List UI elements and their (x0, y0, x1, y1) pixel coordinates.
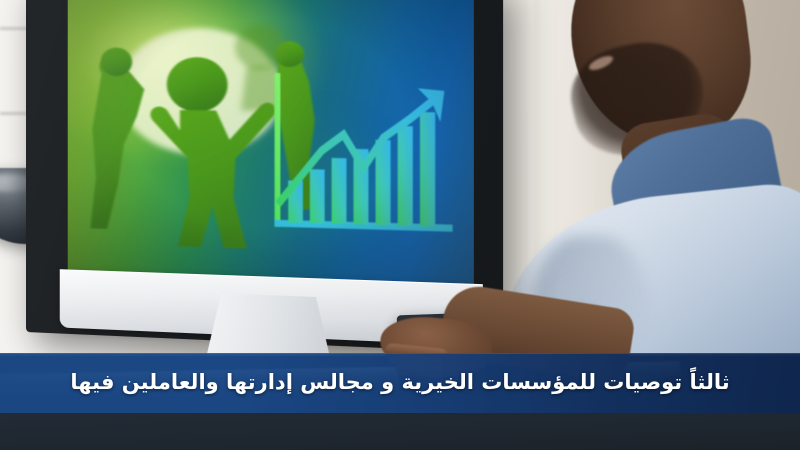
caption-text: ثالثاً توصيات للمؤسسات الخيرية و مجالس إ… (56, 371, 743, 394)
screen-reflection (68, 0, 474, 286)
slide-canvas: ثالثاً توصيات للمؤسسات الخيرية و مجالس إ… (0, 0, 800, 450)
caption-banner: ثالثاً توصيات للمؤسسات الخيرية و مجالس إ… (0, 353, 800, 413)
imac-computer (26, 0, 503, 353)
monitor-stand (206, 293, 331, 362)
monitor-screen (68, 0, 474, 286)
